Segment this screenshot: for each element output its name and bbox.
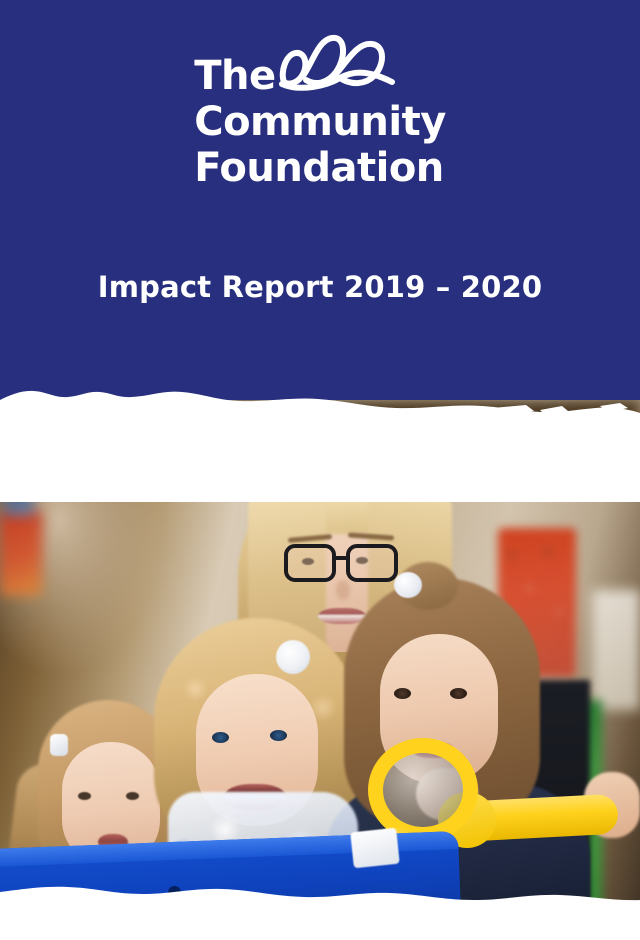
logo-lockup: The Community Foundation	[194, 56, 446, 188]
three-loop-squiggle-icon	[278, 32, 398, 94]
photo-background-poster-left	[0, 510, 42, 596]
photo-inner	[0, 400, 640, 940]
cover-photograph	[0, 400, 640, 940]
report-cover-page: The Community Foundation Impact Report 2…	[0, 0, 640, 940]
child-right-pompom-hair-tie	[394, 572, 422, 598]
glasses-lens-left	[284, 544, 336, 582]
photo-background-poster-blue	[4, 482, 34, 516]
child-left-hair-clip	[50, 734, 68, 756]
tray-label	[350, 828, 400, 869]
child-right-eye-left	[394, 688, 411, 699]
child-middle-eye-right	[270, 730, 287, 741]
glasses-bridge	[334, 556, 350, 560]
logo-line-3: Foundation	[194, 148, 446, 188]
magnifier-lens-ring	[368, 738, 478, 842]
logo-line-2: Community	[194, 102, 446, 142]
glasses-lens-right	[346, 544, 398, 582]
child-middle-pompom-hair-tie	[276, 640, 310, 674]
child-middle-eye-left	[212, 732, 229, 743]
child-left-eye-right	[126, 792, 139, 800]
report-title: Impact Report 2019 – 2020	[0, 270, 640, 304]
tray-hole	[168, 886, 181, 899]
organisation-logo: The Community Foundation	[0, 56, 640, 188]
photo-background-panel	[592, 590, 640, 710]
header-panel: The Community Foundation Impact Report 2…	[0, 0, 640, 420]
child-left-eye-left	[78, 792, 91, 800]
child-right-eye-right	[450, 688, 467, 699]
